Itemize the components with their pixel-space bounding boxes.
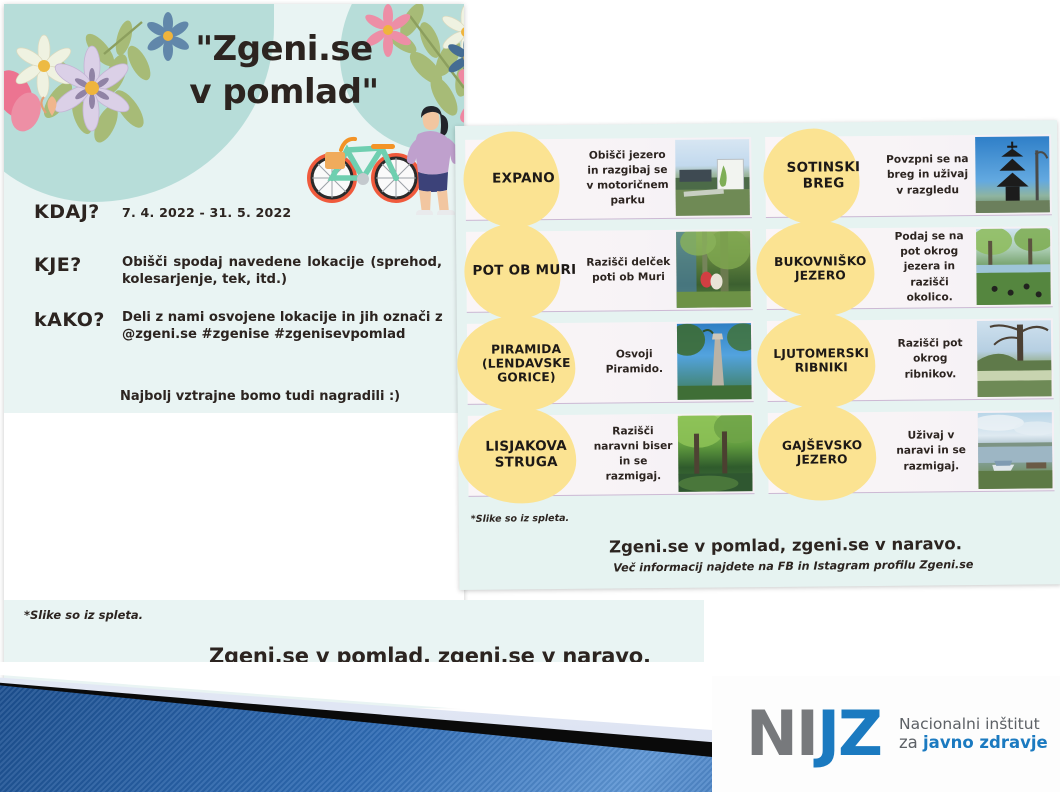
location-thumbnail <box>977 320 1052 397</box>
poster-locations-footer-headline: Zgeni.se v pomlad, zgeni.se v naravo. <box>609 534 962 556</box>
poster-main-footnote: *Slike so iz spleta. <box>24 608 143 622</box>
location-thumbnail <box>676 231 751 308</box>
nijz-logo-jz: JZ <box>817 703 881 765</box>
poster-main-footer-sub: Več informacij najdete na FB in Istagram… <box>214 676 665 692</box>
info-value-kje: Obišči spodaj navedene lokacije (sprehod… <box>122 254 442 289</box>
info-value-kako: Deli z nami osvojene lokacije in jih ozn… <box>122 309 452 344</box>
poster-main-footer-panel: *Slike so iz spleta. Zgeni.se v pomlad, … <box>4 600 704 708</box>
location-card[interactable]: LISJAKOVA STRUGA Razišči naravni biser i… <box>468 413 755 497</box>
info-label-kako: kAKO? <box>34 309 122 344</box>
location-description: Razišči pot okrog ribnikov. <box>883 336 977 382</box>
poster-locations-footer-sub: Več informacij najdete na FB in Istagram… <box>613 558 973 574</box>
poster-main-top-panel: "Zgeni.se v pomlad" <box>4 4 464 413</box>
location-column-left: EXPANO Obišči jezero in razgibaj se v mo… <box>465 137 755 508</box>
location-description: Uživaj v naravi in se razmigaj. <box>884 428 978 474</box>
location-name: SOTINSKI BREG <box>767 160 879 192</box>
location-thumbnail <box>675 139 750 216</box>
location-name: EXPANO <box>467 171 579 188</box>
location-name: BUKOVNIŠKO JEZERO <box>758 254 882 283</box>
location-name: LISJAKOVA STRUGA <box>464 439 588 472</box>
location-name: PIRAMIDA (LENDAVSKE GORICE) <box>461 341 591 385</box>
location-card[interactable]: POT OB MURI Razišči delček poti ob Muri <box>466 229 753 313</box>
location-description: Razišči naravni biser in se razmigaj. <box>588 424 679 485</box>
bicycle-and-walker-illustration <box>297 100 464 215</box>
nijz-logo: NIJZ Nacionalni inštitut za javno zdravj… <box>712 676 1060 792</box>
poster-locations-footnote: *Slike so iz spleta. <box>471 513 569 525</box>
nijz-logo-wordmark: Nacionalni inštitut za javno zdravje <box>899 715 1048 753</box>
location-thumbnail <box>976 228 1051 305</box>
nijz-logo-line2-prefix: za <box>899 733 923 752</box>
poster-title-line1: "Zgeni.se <box>154 28 414 71</box>
location-card[interactable]: BUKOVNIŠKO JEZERO Podaj se na pot okrog … <box>766 226 1053 310</box>
info-row-kje: KJE? Obišči spodaj navedene lokacije (sp… <box>34 254 454 289</box>
location-thumbnail <box>677 323 752 400</box>
info-label-kdaj: KDAJ? <box>34 201 122 223</box>
location-card[interactable]: LJUTOMERSKI RIBNIKI Razišči pot okrog ri… <box>767 318 1054 402</box>
info-label-kje: KJE? <box>34 254 122 289</box>
location-description: Podaj se na pot okrog jezera in razišči … <box>882 229 977 305</box>
nijz-logo-line1: Nacionalni inštitut <box>899 715 1048 733</box>
location-name: LJUTOMERSKI RIBNIKI <box>759 346 883 375</box>
location-card[interactable]: PIRAMIDA (LENDAVSKE GORICE) Osvoji Piram… <box>467 321 754 405</box>
location-card[interactable]: EXPANO Obišči jezero in razgibaj se v mo… <box>465 137 752 221</box>
location-description: Obišči jezero in razgibaj se v motorične… <box>579 148 676 209</box>
location-description: Povzpni se na breg in uživaj v razgledu <box>879 152 975 198</box>
location-column-right: SOTINSKI BREG Povzpni se na breg in uživ… <box>765 134 1055 505</box>
info-note-prize: Najbolj vztrajne bomo tudi nagradili :) <box>120 389 400 404</box>
location-name: POT OB MURI <box>468 263 580 280</box>
location-name: GAJŠEVSKO JEZERO <box>760 438 884 467</box>
location-thumbnail <box>678 415 753 492</box>
nijz-logo-line2-bold: javno zdravje <box>923 733 1048 752</box>
poster-main-footer-headline: Zgeni.se v pomlad, zgeni.se v naravo. <box>209 644 651 668</box>
info-row-kdaj: KDAJ? 7. 4. 2022 - 31. 5. 2022 <box>34 201 291 223</box>
location-description: Osvoji Piramido. <box>591 347 677 378</box>
poster-main: "Zgeni.se v pomlad" <box>4 4 464 704</box>
poster-locations: EXPANO Obišči jezero in razgibaj se v mo… <box>455 120 1060 590</box>
info-row-kako: kAKO? Deli z nami osvojene lokacije in j… <box>34 309 464 344</box>
presentation-slide: "Zgeni.se v pomlad" <box>0 0 1060 792</box>
nijz-logo-ni: NI <box>746 703 817 765</box>
nijz-logo-line2: za javno zdravje <box>899 733 1048 752</box>
location-description: Razišči delček poti ob Muri <box>580 255 676 286</box>
location-card[interactable]: GAJŠEVSKO JEZERO Uživaj v naravi in se r… <box>768 410 1055 494</box>
location-thumbnail <box>975 136 1050 213</box>
location-card[interactable]: SOTINSKI BREG Povzpni se na breg in uživ… <box>765 134 1052 218</box>
location-thumbnail <box>978 412 1053 489</box>
nijz-logo-mark: NIJZ <box>746 703 881 765</box>
location-cards-grid: EXPANO Obišči jezero in razgibaj se v mo… <box>465 134 1051 140</box>
info-value-kdaj: 7. 4. 2022 - 31. 5. 2022 <box>122 201 291 223</box>
